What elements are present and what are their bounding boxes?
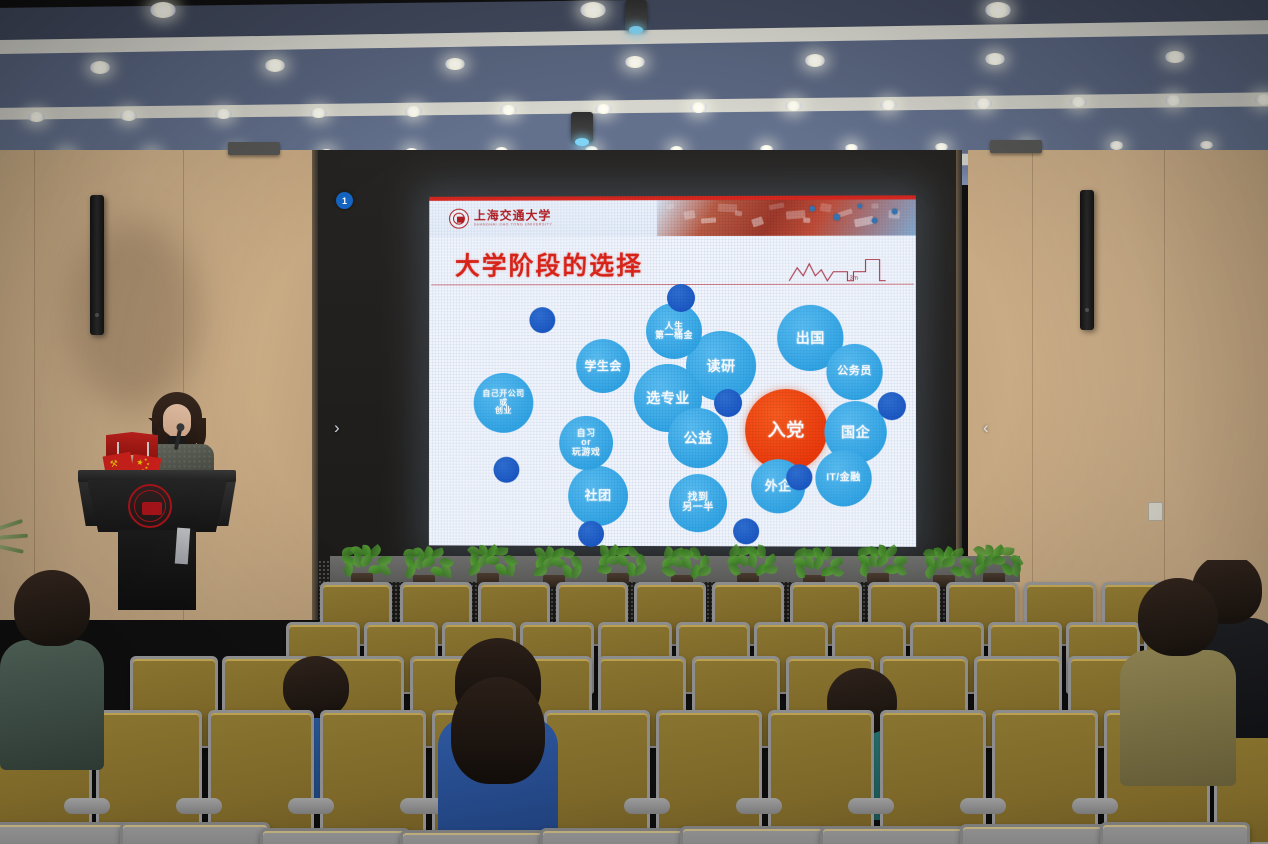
auditorium-seat[interactable] <box>768 710 874 844</box>
speaker-column <box>90 195 104 335</box>
bubble-decorative <box>714 389 742 417</box>
ceiling-downlight <box>265 59 285 71</box>
sjtu-logo: 上海交通大学 SHANGHAI JIAO TONG UNIVERSITY <box>449 207 552 229</box>
ceiling-downlight <box>580 2 606 18</box>
bubble-label: 国企 <box>841 425 870 440</box>
bubble-自己开公司 或 创业: 自己开公司 或 创业 <box>474 373 534 433</box>
svg-text:3m: 3m <box>849 276 857 282</box>
ceiling-downlight <box>1255 94 1268 105</box>
bubble-label: 选专业 <box>646 391 689 406</box>
auditorium-seat[interactable] <box>260 828 410 844</box>
sjtu-name: 上海交通大学 <box>474 210 552 222</box>
plant-leaf <box>756 544 767 558</box>
bubble-label: 学生会 <box>584 360 621 373</box>
header-beam <box>803 218 810 223</box>
audience-torso <box>0 640 104 770</box>
ceiling-downlight <box>1200 141 1213 149</box>
bubble-decorative <box>529 307 555 333</box>
header-beam <box>701 217 716 223</box>
ceiling-downlight <box>1110 141 1123 149</box>
nav-prev-chevron[interactable]: ‹ <box>983 418 989 438</box>
bubble-label: 自习 or 玩游戏 <box>572 429 600 457</box>
seat-armrest <box>288 798 334 814</box>
title-underline <box>431 284 914 286</box>
slide-number-badge: 1 <box>336 192 353 209</box>
bubble-decorative <box>578 521 604 547</box>
auditorium-seat[interactable] <box>1100 822 1250 844</box>
bubble-IT/金融: IT/金融 <box>815 450 871 506</box>
auditorium-seat[interactable] <box>544 710 650 844</box>
bubble-decorative <box>667 284 695 312</box>
ceiling-downlight <box>880 100 897 111</box>
bubble-decorative <box>878 392 906 420</box>
header-beam <box>769 202 785 210</box>
sjtu-subtitle: SHANGHAI JIAO TONG UNIVERSITY <box>474 224 552 228</box>
bubble-label: IT/金融 <box>826 473 860 484</box>
projector-icon <box>571 112 593 142</box>
sjtu-emblem-icon <box>128 484 172 528</box>
bubble-decorative <box>733 518 759 544</box>
bubble-学生会: 学生会 <box>576 339 630 393</box>
bubble-人生 第一桶金: 人生 第一桶金 <box>646 303 702 359</box>
audience-torso <box>1120 650 1236 786</box>
podium-paper <box>175 528 190 565</box>
ceiling-downlight <box>690 102 707 113</box>
bubble-decorative <box>493 457 519 483</box>
projected-slide[interactable]: 上海交通大学 SHANGHAI JIAO TONG UNIVERSITY 大学阶… <box>429 195 916 546</box>
header-photo-decoration <box>657 199 916 236</box>
ceiling-downlight <box>28 112 45 123</box>
bubble-入党: 入党 <box>745 389 827 471</box>
ceiling-downlight <box>405 106 422 117</box>
bubble-自习 or 玩游戏: 自习 or 玩游戏 <box>559 416 613 470</box>
bubble-label: 找到 另一半 <box>682 493 714 514</box>
auditorium-seat[interactable] <box>540 828 690 844</box>
ceiling-downlight <box>90 61 110 73</box>
audience-seating <box>0 560 1268 844</box>
bubble-找到 另一半: 找到 另一半 <box>669 474 727 532</box>
header-balloon <box>857 204 862 209</box>
seat-armrest <box>624 798 670 814</box>
ceiling-downlight <box>310 108 327 119</box>
bubble-社团: 社团 <box>568 466 628 526</box>
header-beam <box>683 210 695 220</box>
auditorium-seat[interactable] <box>320 710 426 844</box>
header-balloon <box>892 208 898 214</box>
header-beam <box>735 210 743 216</box>
bubble-decorative <box>786 464 812 490</box>
ceiling-downlight <box>975 98 992 109</box>
seat-armrest <box>1072 798 1118 814</box>
header-beam <box>666 203 674 210</box>
header-beam <box>751 216 764 227</box>
bubble-label: 入党 <box>768 421 805 440</box>
wall-seam <box>1032 150 1033 630</box>
header-balloon <box>809 206 815 212</box>
air-vent <box>228 142 280 155</box>
slide-title: 大学阶段的选择 <box>455 246 643 282</box>
bubble-公务员: 公务员 <box>826 344 882 400</box>
sjtu-seal-icon <box>449 209 469 229</box>
ceiling-downlight <box>985 53 1005 65</box>
header-beam <box>871 203 878 209</box>
plant-leaf <box>690 546 702 561</box>
nav-next-chevron[interactable]: › <box>334 418 340 438</box>
bubble-label: 自己开公司 或 创业 <box>482 390 524 415</box>
ceiling-downlight <box>805 54 825 66</box>
ceiling-downlight <box>150 2 176 18</box>
screen-frame-left <box>312 150 318 620</box>
audience-long-hair <box>451 677 545 785</box>
audience-head <box>283 656 349 718</box>
wall-seam <box>1164 150 1165 630</box>
audience-head <box>1138 578 1218 656</box>
auditorium-seat[interactable] <box>400 830 550 844</box>
header-beam <box>820 203 832 213</box>
bubble-label: 社团 <box>585 489 612 503</box>
audience-head <box>14 570 90 646</box>
lecture-hall-scene: 1 › ‹ 上海交通大学 SHANGHAI JIAO TONG UNIVERSI… <box>0 0 1268 844</box>
speaker-column <box>1080 190 1094 330</box>
auditorium-seat[interactable] <box>680 826 830 844</box>
ceiling-downlight <box>445 58 465 70</box>
bubble-chart: 入党读研出国选专业学生会人生 第一桶金公务员国企公益外企IT/金融社团找到 另一… <box>429 288 916 547</box>
auditorium-seat[interactable] <box>656 710 762 844</box>
seat-armrest <box>848 798 894 814</box>
bubble-label: 公益 <box>683 431 712 446</box>
header-balloon <box>833 214 840 221</box>
header-balloon <box>872 218 878 224</box>
seat-armrest <box>176 798 222 814</box>
auditorium-seat[interactable] <box>0 822 130 844</box>
slide-header: 上海交通大学 SHANGHAI JIAO TONG UNIVERSITY <box>429 199 916 236</box>
bubble-label: 出国 <box>796 331 825 346</box>
projector-icon <box>625 0 647 30</box>
seat-armrest <box>64 798 110 814</box>
auditorium-seat[interactable] <box>120 822 270 844</box>
campus-skyline-icon: 3m <box>787 254 888 282</box>
bubble-label: 读研 <box>707 359 736 374</box>
bubble-公益: 公益 <box>668 408 728 468</box>
ceiling-downlight <box>595 104 612 115</box>
seat-armrest <box>736 798 782 814</box>
ceiling-downlight <box>120 110 137 121</box>
bubble-label: 人生 第一桶金 <box>655 322 693 341</box>
wall-outlet <box>1148 502 1163 521</box>
auditorium-seat[interactable] <box>960 824 1110 844</box>
ceiling-downlight <box>1165 95 1182 106</box>
bubble-label: 公务员 <box>837 366 872 378</box>
air-vent <box>990 140 1042 153</box>
auditorium-seat[interactable] <box>820 826 970 844</box>
seat-armrest <box>960 798 1006 814</box>
ceiling-downlight <box>985 2 1011 18</box>
